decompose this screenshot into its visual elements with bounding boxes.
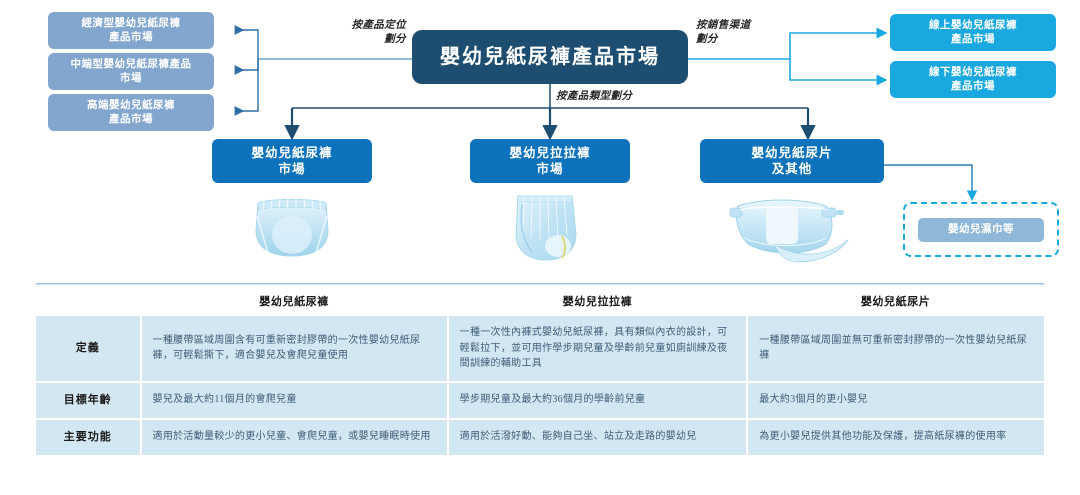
root-node[interactable]: 嬰幼兒紙尿褲產品市場: [412, 30, 688, 84]
row-head-main-function: 主要功能: [36, 419, 141, 455]
mid-node-diaperpad[interactable]: 嬰幼兒紙尿片 及其他: [700, 139, 884, 183]
left-node-economy[interactable]: 經濟型嬰幼兒紙尿褲 產品市場: [48, 12, 214, 49]
cell-main-function-diaper: 適用於活動量較少的更小兒童、會爬兒童，或嬰兒睡眠時使用: [141, 419, 448, 455]
baby-diaper-pant-image: [238, 190, 346, 262]
extra-node-wipes[interactable]: 嬰幼兒濕巾等: [918, 218, 1044, 242]
cell-target-age-diaperpad: 最大約3個月的更小嬰兒: [747, 382, 1044, 419]
table-row: 目標年齡 嬰兒及最大約11個月的會爬兒童 學步期兒童及最大約36個月的學齡前兒童…: [36, 382, 1044, 419]
table-header-blank: [36, 286, 141, 316]
mid-node-trainingpant[interactable]: 嬰幼兒拉拉褲 市場: [470, 139, 630, 183]
cell-target-age-diaper: 嬰兒及最大約11個月的會爬兒童: [141, 382, 448, 419]
cell-definition-trainingpant: 一種一次性內褲式嬰幼兒紙尿褲，具有類似內衣的設計，可輕鬆拉下，並可用作學步期兒童…: [448, 316, 748, 382]
table-row: 主要功能 適用於活動量較少的更小兒童、會爬兒童，或嬰兒睡眠時使用 適用於活潑好動…: [36, 419, 1044, 455]
connector-label-left: 按產品定位 劃分: [300, 19, 406, 47]
mid-node-diaper-label: 嬰幼兒紙尿褲 市場: [251, 145, 332, 178]
left-node-midrange[interactable]: 中端型嬰幼兒紙尿褲產品 市場: [48, 53, 214, 90]
left-node-midrange-label: 中端型嬰幼兒紙尿褲產品 市場: [71, 58, 192, 86]
root-node-label: 嬰幼兒紙尿褲產品市場: [440, 44, 660, 70]
row-head-definition: 定義: [36, 316, 141, 382]
table-header-diaperpad: 嬰幼兒紙尿片: [747, 286, 1044, 316]
comparison-table: 嬰幼兒紙尿褲 嬰幼兒拉拉褲 嬰幼兒紙尿片 定義 一種腰帶區域周圍含有可重新密封膠…: [36, 283, 1044, 455]
baby-training-pant-image: [492, 188, 596, 264]
table-header-diaper: 嬰幼兒紙尿褲: [141, 286, 448, 316]
mid-node-diaper[interactable]: 嬰幼兒紙尿褲 市場: [212, 139, 372, 183]
table-header-trainingpant: 嬰幼兒拉拉褲: [448, 286, 748, 316]
cell-main-function-diaperpad: 為更小嬰兒提供其他功能及保護，提高紙尿褲的使用率: [747, 419, 1044, 455]
cell-definition-diaperpad: 一種腰帶區域周圍並無可重新密封膠帶的一次性嬰幼兒紙尿褲: [747, 316, 1044, 382]
row-head-target-age: 目標年齡: [36, 382, 141, 419]
table-row: 定義 一種腰帶區域周圍含有可重新密封膠帶的一次性嬰幼兒紙尿褲，可輕鬆撕下，適合嬰…: [36, 316, 1044, 382]
right-node-offline[interactable]: 線下嬰幼兒紙尿褲 產品市場: [890, 61, 1056, 98]
right-node-online-label: 線上嬰幼兒紙尿褲 產品市場: [929, 19, 1017, 47]
mid-node-trainingpant-label: 嬰幼兒拉拉褲 市場: [509, 145, 590, 178]
extra-node-wipes-label: 嬰幼兒濕巾等: [948, 223, 1014, 237]
diagram-page: 嬰幼兒紙尿褲產品市場 按產品定位 劃分 按銷售渠道 劃分 按產品類型劃分 經濟型…: [0, 0, 1080, 495]
cell-definition-diaper: 一種腰帶區域周圍含有可重新密封膠帶的一次性嬰幼兒紙尿褲，可輕鬆撕下，適合嬰兒及會…: [141, 316, 448, 382]
cell-target-age-trainingpant: 學步期兒童及最大約36個月的學齡前兒童: [448, 382, 748, 419]
baby-diaper-pad-image: [722, 192, 854, 264]
right-node-offline-label: 線下嬰幼兒紙尿褲 產品市場: [929, 66, 1017, 94]
cell-main-function-trainingpant: 適用於活潑好動、能夠自己坐、站立及走路的嬰幼兒: [448, 419, 748, 455]
right-node-online[interactable]: 線上嬰幼兒紙尿褲 產品市場: [890, 14, 1056, 51]
table-header-row: 嬰幼兒紙尿褲 嬰幼兒拉拉褲 嬰幼兒紙尿片: [36, 286, 1044, 316]
connector-label-right: 按銷售渠道 劃分: [696, 19, 802, 47]
left-node-economy-label: 經濟型嬰幼兒紙尿褲 產品市場: [82, 17, 181, 45]
mid-node-diaperpad-label: 嬰幼兒紙尿片 及其他: [751, 145, 832, 178]
left-node-premium-label: 高端嬰幼兒紙尿褲 產品市場: [87, 99, 175, 127]
connector-label-bottom: 按產品類型劃分: [556, 90, 706, 104]
left-node-premium[interactable]: 高端嬰幼兒紙尿褲 產品市場: [48, 94, 214, 131]
